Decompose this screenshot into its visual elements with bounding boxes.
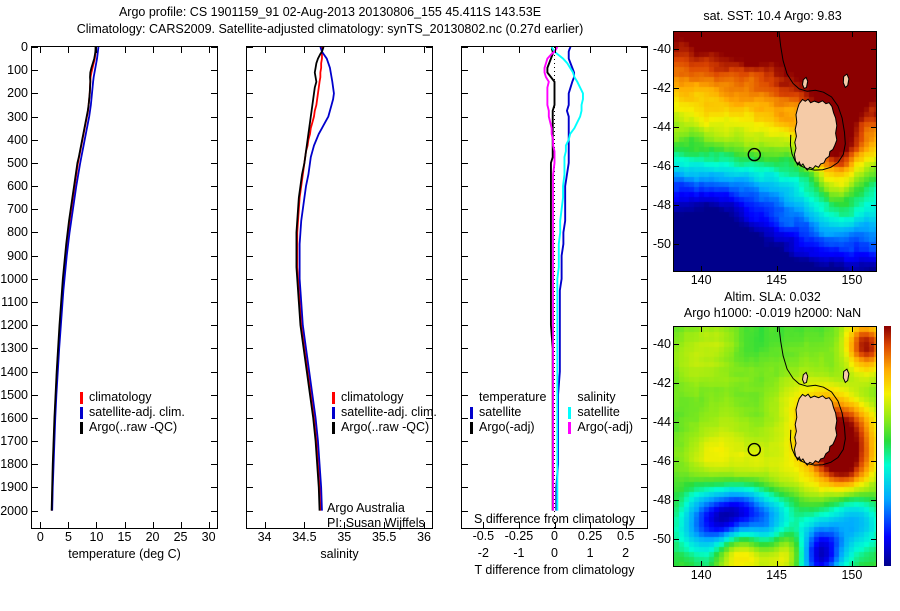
depth-tick <box>462 140 468 141</box>
swatch-temperature-satellite <box>470 407 473 419</box>
depth-tick <box>211 418 217 419</box>
depth-tick <box>247 186 253 187</box>
lon-tick <box>777 561 778 566</box>
s-diff-tick-label: 0.25 <box>578 529 602 543</box>
swatch-argo <box>80 422 83 434</box>
salinity-difference-axis-title: S difference from climatology <box>461 512 648 527</box>
legend-header: temperature <box>470 390 546 405</box>
depth-tick <box>641 325 647 326</box>
lat-tick <box>674 500 679 501</box>
depth-tick <box>641 232 647 233</box>
legend-label: Argo(..raw -QC) <box>341 420 429 435</box>
island-landmass <box>843 74 849 87</box>
lat-tick-label: -40 <box>653 337 671 351</box>
difference-profile-curves <box>462 47 647 528</box>
temperature-profile-panel[interactable]: 0100200300400500600700800900100011001200… <box>31 46 218 529</box>
x-tick <box>209 47 210 53</box>
depth-tick <box>462 117 468 118</box>
depth-tick <box>211 256 217 257</box>
x-tick <box>181 47 182 53</box>
lat-tick <box>871 205 876 206</box>
depth-tick <box>32 372 38 373</box>
x-tick-label: 5 <box>65 530 72 544</box>
depth-tick <box>462 418 468 419</box>
depth-tick <box>641 395 647 396</box>
x-tick <box>40 47 41 53</box>
depth-tick <box>462 372 468 373</box>
sla-colorbar <box>884 326 891 566</box>
depth-tick-label: 800 <box>7 225 28 239</box>
lat-tick <box>674 422 679 423</box>
depth-tick <box>211 140 217 141</box>
legend-item: Argo(..raw -QC) <box>80 420 185 435</box>
title-line-2: Climatology: CARS2009. Satellite-adjuste… <box>0 21 660 38</box>
lon-tick <box>852 266 853 271</box>
legend-label: climatology <box>89 390 152 405</box>
lon-tick-label: 140 <box>691 273 712 287</box>
depth-tick <box>641 256 647 257</box>
depth-tick <box>32 279 38 280</box>
depth-tick-label: 900 <box>7 249 28 263</box>
depth-tick <box>32 348 38 349</box>
lon-tick <box>852 561 853 566</box>
legend-label: climatology <box>341 390 404 405</box>
series-salinity-satellite <box>552 47 583 511</box>
depth-tick <box>247 232 253 233</box>
s-diff-tick-label: -0.5 <box>473 529 495 543</box>
lat-tick <box>674 383 679 384</box>
legend-header-label: temperature <box>479 390 546 405</box>
lat-tick-label: -40 <box>653 42 671 56</box>
depth-tick <box>426 186 432 187</box>
depth-tick <box>32 70 38 71</box>
depth-tick-label: 1700 <box>0 434 28 448</box>
lon-tick <box>777 32 778 37</box>
lat-tick <box>674 244 679 245</box>
temperature-profile-curves <box>32 47 217 528</box>
s-diff-tick-label: 0 <box>551 529 558 543</box>
legend-item: climatology <box>80 390 185 405</box>
depth-tick <box>211 511 217 512</box>
provider-name: Argo Australia <box>327 501 425 516</box>
legend-item: Argo(..raw -QC) <box>332 420 437 435</box>
depth-tick-label: 100 <box>7 63 28 77</box>
legend-item: satellite <box>470 405 546 420</box>
x-tick-label: 10 <box>90 530 104 544</box>
depth-tick <box>426 70 432 71</box>
lat-tick-label: -44 <box>653 415 671 429</box>
lat-tick <box>871 422 876 423</box>
depth-tick <box>426 117 432 118</box>
difference-legend: temperature satellite Argo(-adj) salinit… <box>470 390 633 435</box>
swatch-climatology <box>332 392 335 404</box>
depth-tick <box>211 117 217 118</box>
x-tick <box>590 47 591 53</box>
float-position-marker[interactable] <box>748 149 760 161</box>
depth-tick <box>426 163 432 164</box>
lat-tick <box>674 127 679 128</box>
x-tick-label: 36 <box>417 530 431 544</box>
x-tick <box>265 522 266 528</box>
depth-tick <box>641 93 647 94</box>
depth-tick-label: 200 <box>7 86 28 100</box>
depth-tick <box>247 70 253 71</box>
series-satellite-adj-clim- <box>52 47 98 511</box>
depth-tick <box>247 418 253 419</box>
depth-tick <box>462 348 468 349</box>
depth-tick <box>211 464 217 465</box>
depth-tick <box>32 256 38 257</box>
x-tick <box>40 522 41 528</box>
t-diff-tick-label: 0 <box>551 546 558 560</box>
x-tick-label: 35 <box>337 530 351 544</box>
depth-tick <box>32 163 38 164</box>
sst-header-text: sat. SST: 10.4 Argo: 9.83 <box>703 9 841 23</box>
depth-tick-label: 1200 <box>0 318 28 332</box>
depth-tick <box>247 279 253 280</box>
depth-tick <box>462 93 468 94</box>
series-temperature-satellite <box>556 47 574 511</box>
principal-investigator: PI: Susan Wijffels <box>327 516 425 531</box>
depth-tick <box>247 348 253 349</box>
depth-tick <box>641 441 647 442</box>
depth-tick <box>462 47 468 48</box>
lat-tick <box>674 88 679 89</box>
sla-map-overlay <box>674 327 876 566</box>
sla-header-line-1: Altim. SLA: 0.032 <box>660 289 885 305</box>
depth-tick <box>32 117 38 118</box>
x-tick <box>181 522 182 528</box>
lat-tick <box>871 383 876 384</box>
x-tick-label: 30 <box>202 530 216 544</box>
provider-annotation: Argo Australia PI: Susan Wijffels <box>327 501 425 531</box>
depth-tick <box>247 302 253 303</box>
depth-tick <box>32 395 38 396</box>
x-tick-label: 34.5 <box>292 530 316 544</box>
depth-tick <box>211 93 217 94</box>
depth-tick <box>211 47 217 48</box>
float-position-marker[interactable] <box>748 444 760 456</box>
depth-tick <box>462 256 468 257</box>
depth-tick <box>211 163 217 164</box>
x-tick <box>153 522 154 528</box>
legend-item: Argo(-adj) <box>568 420 633 435</box>
depth-tick <box>247 163 253 164</box>
legend-item: climatology <box>332 390 437 405</box>
lon-tick <box>701 266 702 271</box>
lat-tick <box>674 205 679 206</box>
x-tick <box>153 47 154 53</box>
x-tick <box>68 47 69 53</box>
depth-tick <box>641 372 647 373</box>
lat-tick <box>871 500 876 501</box>
swatch-climatology <box>80 392 83 404</box>
depth-tick <box>641 487 647 488</box>
difference-profile-panel[interactable]: -0.5-0.2500.250.5-2-1012T difference fro… <box>461 46 648 529</box>
lon-tick <box>777 266 778 271</box>
lon-tick-label: 150 <box>841 273 862 287</box>
depth-tick <box>426 348 432 349</box>
depth-tick-label: 1100 <box>1 295 28 309</box>
lat-tick <box>871 127 876 128</box>
depth-tick <box>32 418 38 419</box>
legend-label: Argo(..raw -QC) <box>89 420 177 435</box>
depth-tick <box>462 232 468 233</box>
depth-tick <box>426 441 432 442</box>
depth-tick <box>426 487 432 488</box>
depth-tick-label: 700 <box>7 202 28 216</box>
depth-tick <box>426 279 432 280</box>
x-tick-label: 25 <box>174 530 188 544</box>
depth-tick <box>32 464 38 465</box>
depth-tick-label: 1300 <box>0 341 28 355</box>
depth-tick <box>211 186 217 187</box>
legend-header: salinity <box>568 390 633 405</box>
x-tick <box>96 522 97 528</box>
sla-header-line-2: Argo h1000: -0.019 h2000: NaN <box>660 305 885 321</box>
depth-tick <box>247 325 253 326</box>
depth-tick <box>32 302 38 303</box>
lon-tick <box>701 561 702 566</box>
lat-tick-label: -50 <box>653 237 671 251</box>
temperature-legend: climatology satellite-adj. clim. Argo(..… <box>80 390 185 435</box>
s-diff-tick-label: -0.25 <box>505 529 534 543</box>
x-tick <box>125 47 126 53</box>
depth-tick <box>32 325 38 326</box>
depth-tick <box>426 209 432 210</box>
depth-tick <box>641 117 647 118</box>
depth-tick <box>32 232 38 233</box>
legend-label: Argo(-adj) <box>479 420 535 435</box>
t-diff-tick-label: -2 <box>478 546 489 560</box>
depth-tick <box>211 441 217 442</box>
depth-tick-label: 1800 <box>0 457 28 471</box>
depth-tick <box>211 487 217 488</box>
lat-tick <box>674 539 679 540</box>
x-tick <box>344 47 345 53</box>
swatch-argo <box>332 422 335 434</box>
depth-tick <box>641 47 647 48</box>
depth-tick <box>462 395 468 396</box>
title-line-1: Argo profile: CS 1901159_91 02-Aug-2013 … <box>0 4 660 21</box>
depth-tick <box>641 348 647 349</box>
depth-tick <box>462 70 468 71</box>
depth-tick <box>32 511 38 512</box>
depth-tick <box>462 163 468 164</box>
depth-tick <box>641 418 647 419</box>
depth-tick <box>641 209 647 210</box>
depth-tick <box>211 302 217 303</box>
island-landmass <box>803 372 808 383</box>
lon-tick <box>701 327 702 332</box>
x-tick-label: 0 <box>37 530 44 544</box>
legend-item: satellite <box>568 405 633 420</box>
depth-tick <box>247 47 253 48</box>
swatch-salinity-satellite <box>568 407 571 419</box>
t-diff-tick-label: -1 <box>513 546 524 560</box>
depth-tick <box>462 186 468 187</box>
lat-tick <box>871 244 876 245</box>
x-tick <box>125 522 126 528</box>
legend-item: satellite-adj. clim. <box>332 405 437 420</box>
depth-tick-label: 600 <box>7 179 28 193</box>
lat-tick-label: -44 <box>653 120 671 134</box>
legend-label: satellite <box>479 405 521 420</box>
lon-tick <box>701 32 702 37</box>
sst-map-panel[interactable]: 140145150-40-42-44-46-48-50 <box>673 31 877 272</box>
depth-tick <box>426 302 432 303</box>
swatch-satellite-adj <box>332 407 335 419</box>
swatch-salinity-argo <box>568 422 571 434</box>
legend-item: satellite-adj. clim. <box>80 405 185 420</box>
lat-tick-label: -42 <box>653 376 671 390</box>
x-tick <box>424 47 425 53</box>
depth-tick <box>211 348 217 349</box>
lat-tick <box>674 166 679 167</box>
x-tick <box>304 522 305 528</box>
lat-tick <box>674 49 679 50</box>
depth-tick <box>641 464 647 465</box>
lat-tick-label: -46 <box>653 454 671 468</box>
depth-tick <box>32 209 38 210</box>
depth-tick <box>426 232 432 233</box>
sla-map-header: Altim. SLA: 0.032 Argo h1000: -0.019 h20… <box>660 289 885 321</box>
depth-tick <box>211 279 217 280</box>
x-tick <box>483 47 484 53</box>
depth-tick <box>32 93 38 94</box>
lon-tick <box>852 32 853 37</box>
t-diff-tick-label: 2 <box>622 546 629 560</box>
lat-tick <box>674 344 679 345</box>
depth-tick-label: 1900 <box>0 480 28 494</box>
x-tick-label: 34 <box>258 530 272 544</box>
lat-tick <box>871 461 876 462</box>
depth-tick <box>462 325 468 326</box>
lat-tick-label: -48 <box>653 493 671 507</box>
depth-tick <box>211 372 217 373</box>
island-landmass <box>803 77 808 88</box>
swatch-spacer <box>568 392 571 404</box>
x-tick <box>209 522 210 528</box>
sst-map-header: sat. SST: 10.4 Argo: 9.83 <box>660 8 885 24</box>
depth-tick <box>32 186 38 187</box>
x-tick <box>96 47 97 53</box>
depth-tick <box>641 140 647 141</box>
x-tick <box>555 47 556 53</box>
x-tick <box>304 47 305 53</box>
depth-tick <box>247 140 253 141</box>
depth-tick <box>247 117 253 118</box>
depth-tick <box>641 279 647 280</box>
depth-tick <box>641 186 647 187</box>
lat-tick-label: -50 <box>653 532 671 546</box>
sla-map-panel[interactable]: 140145150-40-42-44-46-48-50 <box>673 326 877 567</box>
depth-tick <box>247 93 253 94</box>
x-axis-title: T difference from climatology <box>474 563 634 577</box>
depth-tick-label: 1000 <box>0 272 28 286</box>
depth-tick-label: 1600 <box>0 411 28 425</box>
lat-tick-label: -48 <box>653 198 671 212</box>
lat-tick <box>871 166 876 167</box>
depth-tick-label: 1500 <box>0 388 28 402</box>
depth-tick <box>247 487 253 488</box>
x-tick <box>519 47 520 53</box>
depth-tick <box>247 441 253 442</box>
depth-tick <box>641 70 647 71</box>
t-diff-tick-label: 1 <box>587 546 594 560</box>
lat-tick <box>871 88 876 89</box>
swatch-spacer <box>470 392 473 404</box>
depth-tick <box>426 93 432 94</box>
depth-tick <box>426 47 432 48</box>
lat-tick-label: -46 <box>653 159 671 173</box>
lat-tick <box>871 49 876 50</box>
lon-tick-label: 145 <box>766 273 787 287</box>
legend-label: satellite-adj. clim. <box>341 405 437 420</box>
lat-tick <box>871 539 876 540</box>
depth-tick <box>32 487 38 488</box>
x-tick <box>68 522 69 528</box>
depth-tick <box>641 163 647 164</box>
depth-tick <box>211 70 217 71</box>
lon-tick <box>777 327 778 332</box>
x-axis-title: temperature (deg C) <box>68 547 181 561</box>
depth-tick <box>211 325 217 326</box>
salinity-profile-panel[interactable]: 3434.53535.536salinity <box>246 46 433 529</box>
depth-tick <box>426 140 432 141</box>
legend-label: satellite <box>577 405 619 420</box>
salinity-profile-curves <box>247 47 432 528</box>
swatch-temperature-argo <box>470 422 473 434</box>
depth-tick-label: 1400 <box>0 365 28 379</box>
depth-tick-label: 2000 <box>0 504 28 518</box>
x-tick <box>626 47 627 53</box>
x-tick <box>384 47 385 53</box>
depth-tick <box>32 47 38 48</box>
x-tick-label: 15 <box>118 530 132 544</box>
legend-header-label: salinity <box>577 390 615 405</box>
lat-tick-label: -42 <box>653 81 671 95</box>
depth-tick <box>462 302 468 303</box>
legend-label: satellite-adj. clim. <box>89 405 185 420</box>
salinity-legend: climatology satellite-adj. clim. Argo(..… <box>332 390 437 435</box>
s-diff-tick-label: 0.5 <box>617 529 634 543</box>
swatch-satellite-adj <box>80 407 83 419</box>
lon-tick <box>852 327 853 332</box>
sst-map-overlay <box>674 32 876 271</box>
depth-tick <box>462 209 468 210</box>
depth-tick <box>247 209 253 210</box>
depth-tick <box>247 511 253 512</box>
depth-tick-label: 400 <box>7 133 28 147</box>
depth-tick <box>462 441 468 442</box>
lat-tick <box>871 344 876 345</box>
figure-title: Argo profile: CS 1901159_91 02-Aug-2013 … <box>0 4 660 38</box>
legend-label: Argo(-adj) <box>577 420 633 435</box>
depth-tick <box>426 325 432 326</box>
difference-legend-temperature-column: temperature satellite Argo(-adj) <box>470 390 546 435</box>
tasmania-landmass <box>794 99 836 170</box>
depth-tick <box>32 140 38 141</box>
depth-tick <box>426 256 432 257</box>
depth-tick-label: 300 <box>7 110 28 124</box>
depth-tick <box>247 372 253 373</box>
depth-tick <box>32 441 38 442</box>
x-axis-title: salinity <box>320 547 358 561</box>
depth-tick <box>211 209 217 210</box>
difference-legend-salinity-column: salinity satellite Argo(-adj) <box>568 390 633 435</box>
s-diff-label: S difference from climatology <box>474 512 635 526</box>
